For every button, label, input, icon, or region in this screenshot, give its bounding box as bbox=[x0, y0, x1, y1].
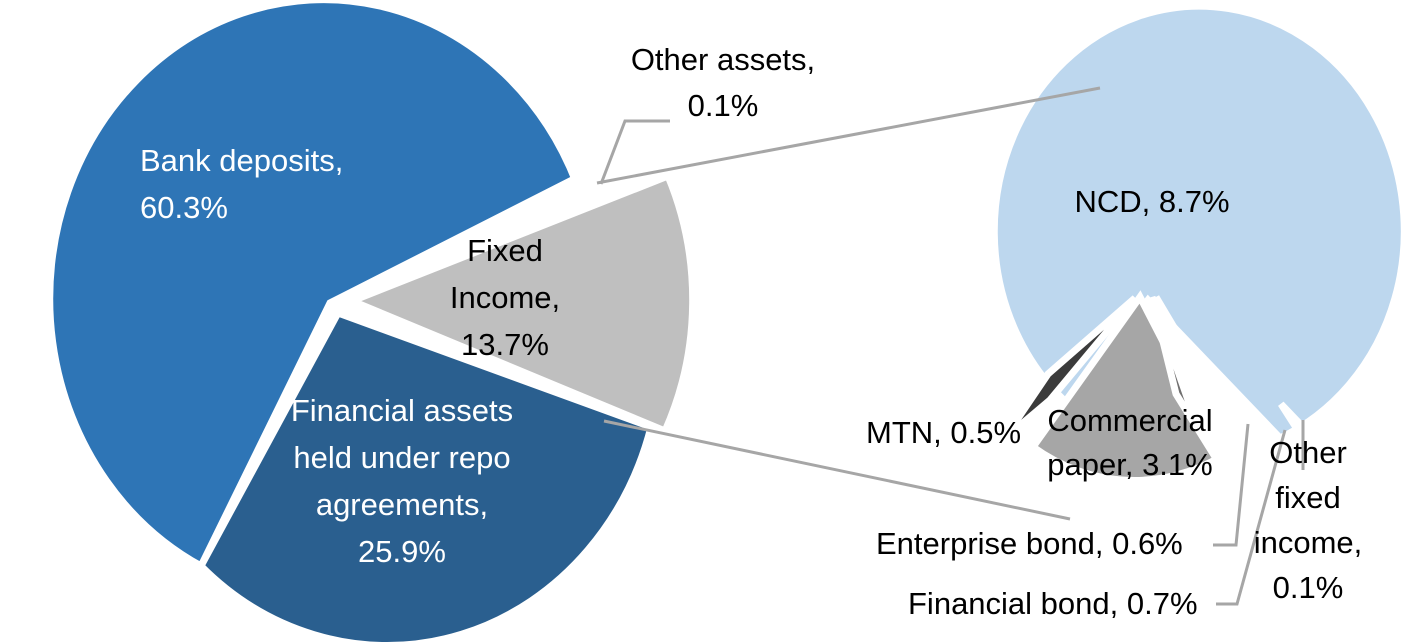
label-mtn: MTN, 0.5% bbox=[866, 415, 1021, 450]
label-bank-deposits-line2: 60.3% bbox=[140, 190, 228, 225]
label-fixed-income-line2: Income, bbox=[450, 280, 560, 315]
chart-canvas: Bank deposits, 60.3% Fixed Income, 13.7%… bbox=[0, 0, 1404, 644]
label-commercial-paper-line2: paper, 3.1% bbox=[1047, 447, 1212, 482]
label-repo-line3: agreements, bbox=[316, 487, 488, 522]
label-fixed-income-line3: 13.7% bbox=[461, 327, 549, 362]
label-financial-bond: Financial bond, 0.7% bbox=[908, 586, 1198, 621]
label-other-fixed-line2: fixed bbox=[1275, 480, 1340, 515]
label-bank-deposits-line1: Bank deposits, bbox=[140, 143, 343, 178]
label-other-assets-line1: Other assets, bbox=[631, 42, 815, 77]
label-other-assets-line2: 0.1% bbox=[688, 88, 759, 123]
label-other-fixed-line1: Other bbox=[1269, 435, 1347, 470]
label-fixed-income-line1: Fixed bbox=[467, 233, 543, 268]
label-other-fixed-line4: 0.1% bbox=[1273, 570, 1344, 605]
pie-of-pie-chart: Bank deposits, 60.3% Fixed Income, 13.7%… bbox=[0, 0, 1404, 644]
label-repo-line4: 25.9% bbox=[358, 534, 446, 569]
label-ncd: NCD, 8.7% bbox=[1074, 184, 1229, 219]
label-other-fixed-line3: income, bbox=[1254, 525, 1363, 560]
label-enterprise-bond: Enterprise bond, 0.6% bbox=[876, 526, 1183, 561]
label-repo-line1: Financial assets bbox=[291, 393, 513, 428]
label-commercial-paper-line1: Commercial bbox=[1047, 403, 1212, 438]
label-repo-line2: held under repo bbox=[293, 440, 510, 475]
